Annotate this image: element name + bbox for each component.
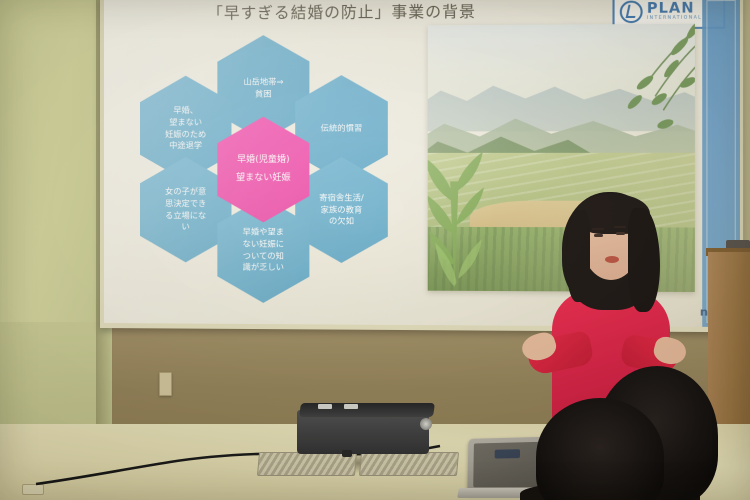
hex-ll-line3: る立場にな (165, 210, 206, 222)
hex-top-line2: 貧困 (243, 88, 283, 100)
hex-top-line1: 山岳地帯⇒ (243, 76, 283, 88)
plan-logo-text: PLAN INTERNATIONAL (647, 1, 702, 21)
presenter-eye-left (594, 234, 603, 237)
plan-logo-word: PLAN (647, 1, 702, 16)
hex-center-line2: 望まない妊娠 (236, 172, 291, 185)
hex-ul-line2: 望まない (165, 117, 206, 129)
hex-ur-line1: 伝統的慣習 (321, 122, 363, 134)
wall-light-switch[interactable] (159, 372, 172, 396)
hex-lr-line3: の欠如 (319, 216, 363, 228)
hex-bt-line3: ついての知 (243, 250, 284, 262)
slide-title: 「早すぎる結婚の防止」事業の背景 (104, 0, 582, 24)
presenter-eye-right (616, 232, 625, 235)
hex-ul-line1: 早婚、 (165, 105, 206, 117)
presenter-hair-right (628, 208, 660, 312)
presentation-room-photo: 「早すぎる結婚の防止」事業の背景 PLAN INTERNATIONAL 山岳地帯… (0, 0, 750, 500)
hex-ll-line2: 思決定でき (165, 198, 206, 210)
hex-bt-line1: 早婚や望ま (243, 227, 284, 239)
projector-lens (420, 418, 432, 430)
photo-bamboo-foliage (614, 24, 695, 185)
presenter-brow-left (592, 228, 604, 230)
hex-ul-line4: 中途退学 (165, 140, 206, 152)
hex-lr-line1: 寄宿舎生活/ (319, 192, 363, 204)
hex-ll-line4: い (165, 221, 206, 233)
plan-logo-subtitle: INTERNATIONAL (647, 17, 702, 22)
projector-foot (342, 450, 352, 457)
hex-bt-line2: ない妊娠に (243, 238, 284, 250)
hex-ll-line1: 女の子が意 (165, 186, 206, 198)
projector-button-power[interactable] (318, 404, 332, 409)
presenter-hair-left (566, 210, 590, 302)
hex-ul-line3: 妊娠のため (165, 128, 206, 140)
plan-circle-mark-icon (620, 1, 643, 24)
hex-lr-line2: 家族の教育 (319, 204, 363, 216)
hex-center-line1: 早婚(児童婚) (236, 154, 291, 167)
laptop-webcam-strip-icon (495, 449, 520, 458)
photo-corn-plants (428, 142, 486, 291)
presenter-brow-right (614, 226, 626, 228)
presenter-lips (605, 256, 619, 263)
projector-button-menu[interactable] (344, 404, 358, 409)
hex-bt-line4: 識が乏しい (243, 262, 284, 274)
